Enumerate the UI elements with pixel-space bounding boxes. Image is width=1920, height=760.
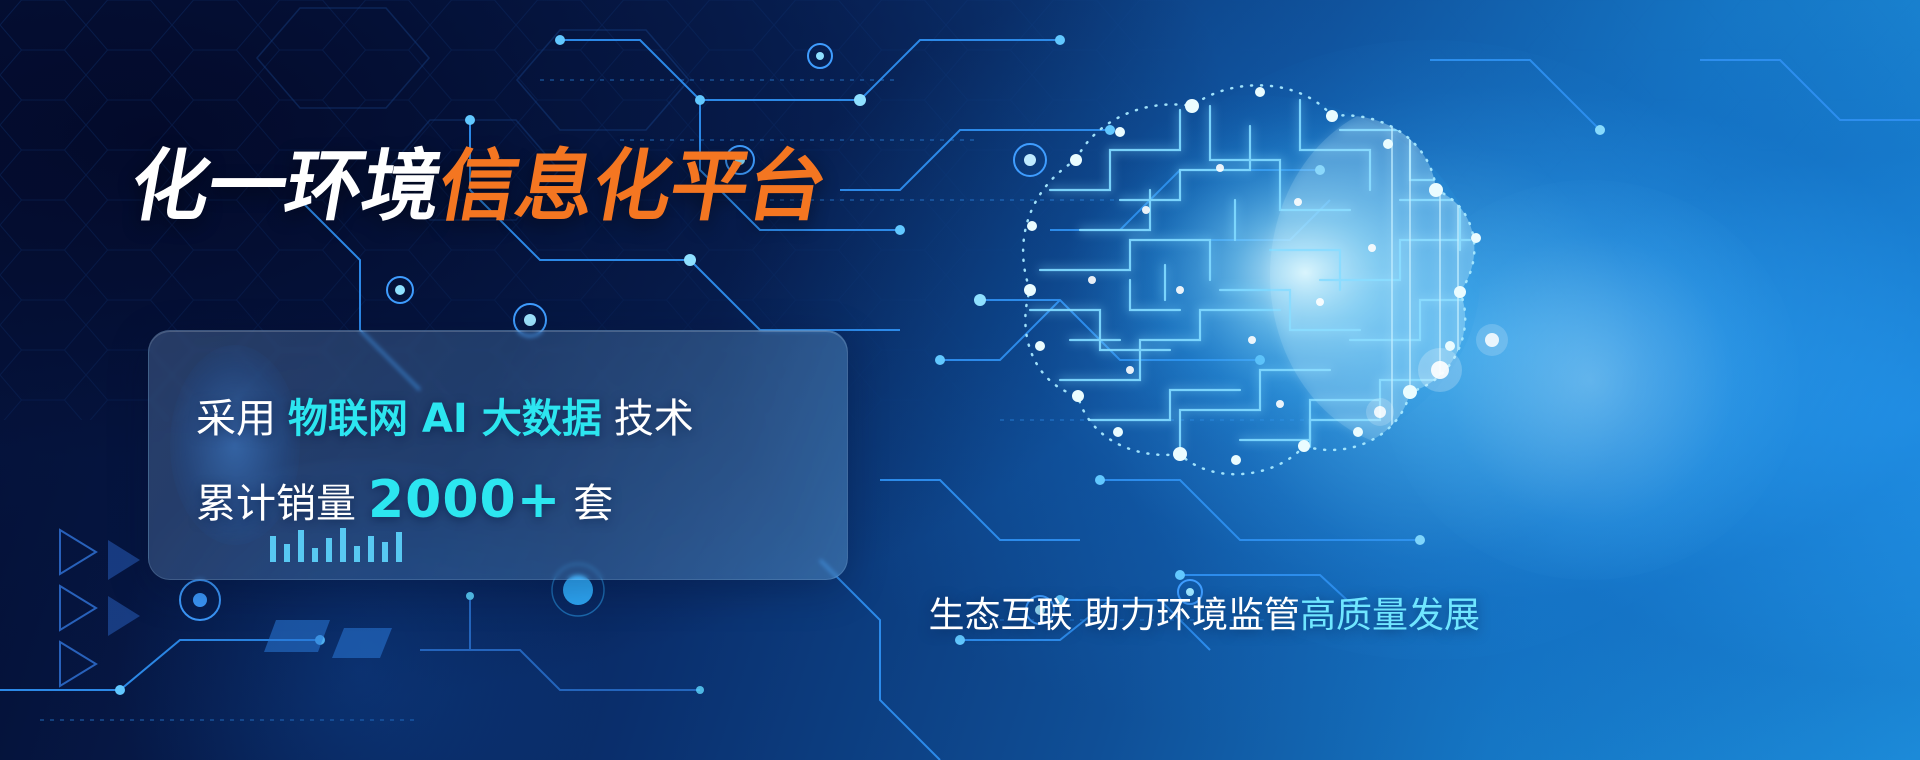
tagline: 生态互联 助力环境监管高质量发展 — [920, 586, 1480, 638]
page-title: 化一环境信息化平台 — [125, 148, 832, 226]
feature-line-technology: 采用物联网 AI 大数据技术 — [196, 386, 694, 444]
line1-prefix: 采用 — [196, 396, 276, 442]
title-orange-part: 信息化平台 — [432, 142, 833, 232]
tagline-highlight-part: 高质量发展 — [1300, 595, 1480, 636]
line1-highlight: 物联网 AI 大数据 — [288, 396, 602, 442]
line1-suffix: 技术 — [614, 396, 694, 442]
title-white-part: 化一环境 — [124, 142, 448, 232]
ai-brain-illustration — [880, 40, 1580, 560]
tagline-normal-part: 生态互联 助力环境监管 — [929, 595, 1300, 636]
hero-banner: 化一环境信息化平台 采用物联网 AI 大数据技术 累计销量2000+套 生态互联… — [0, 0, 1920, 760]
bottom-left-decoration — [0, 500, 900, 760]
